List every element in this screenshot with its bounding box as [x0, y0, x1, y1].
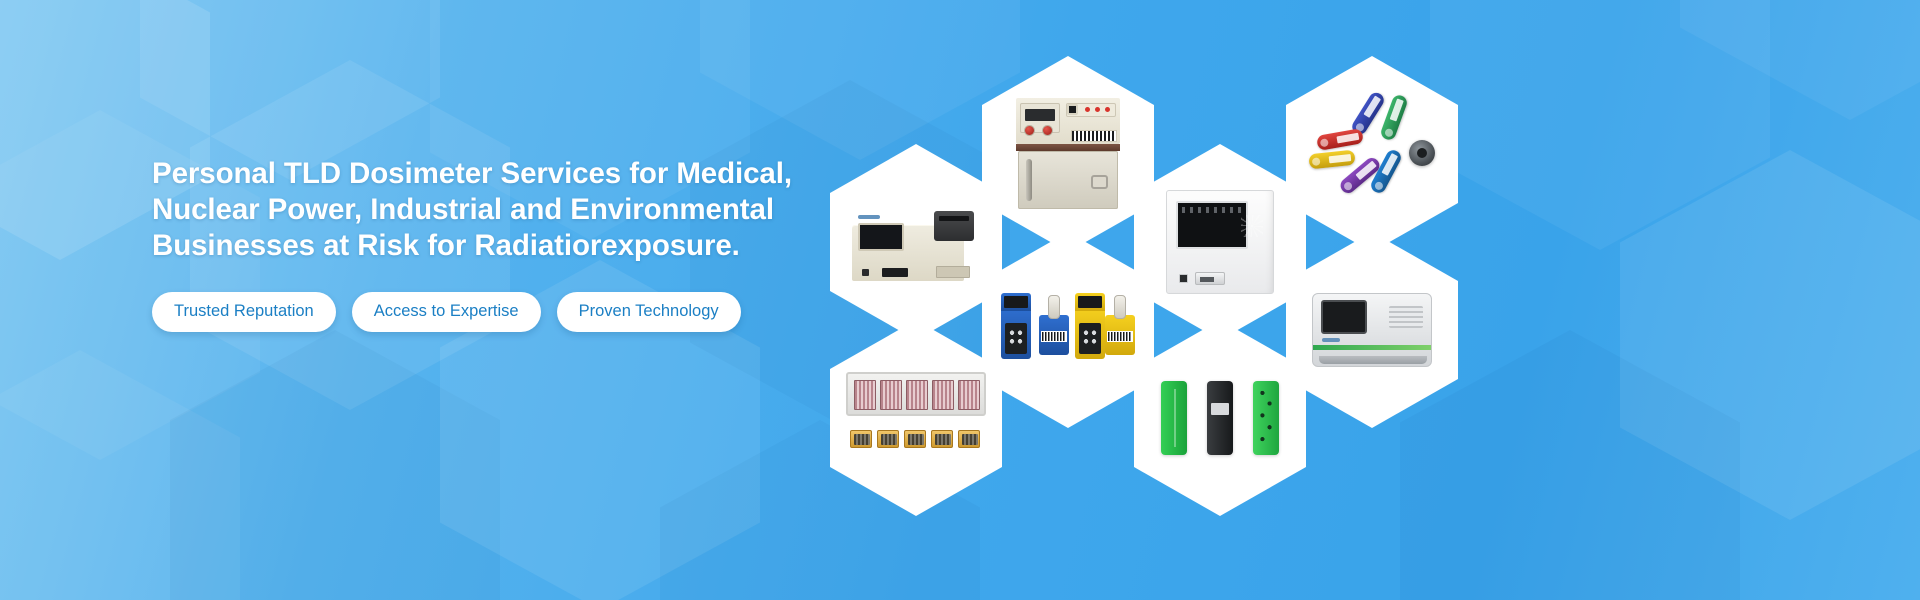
hero-banner: Personal TLD Dosimeter Services for Medi…	[0, 0, 1920, 600]
blue-yellow-badge-holders-photo	[982, 232, 1154, 428]
page-title: Personal TLD Dosimeter Services for Medi…	[152, 156, 872, 264]
hex-cell-annealing-oven[interactable]	[982, 56, 1154, 252]
pill-trusted-reputation[interactable]: Trusted Reputation	[152, 292, 336, 332]
annealing-oven-photo	[982, 56, 1154, 252]
pill-access-to-expertise[interactable]: Access to Expertise	[352, 292, 541, 332]
hex-cell-analyzer-cabinet[interactable]	[1134, 144, 1306, 340]
pill-proven-technology[interactable]: Proven Technology	[557, 292, 741, 332]
product-hexagon-collage	[830, 40, 1430, 460]
detector-disc-icon	[1409, 140, 1435, 166]
tld-analyzer-cabinet-photo	[1134, 144, 1306, 340]
feature-pill-row: Trusted Reputation Access to Expertise P…	[152, 292, 872, 332]
hero-copy: Personal TLD Dosimeter Services for Medi…	[152, 156, 872, 332]
hex-cell-badge-holders[interactable]	[982, 232, 1154, 428]
